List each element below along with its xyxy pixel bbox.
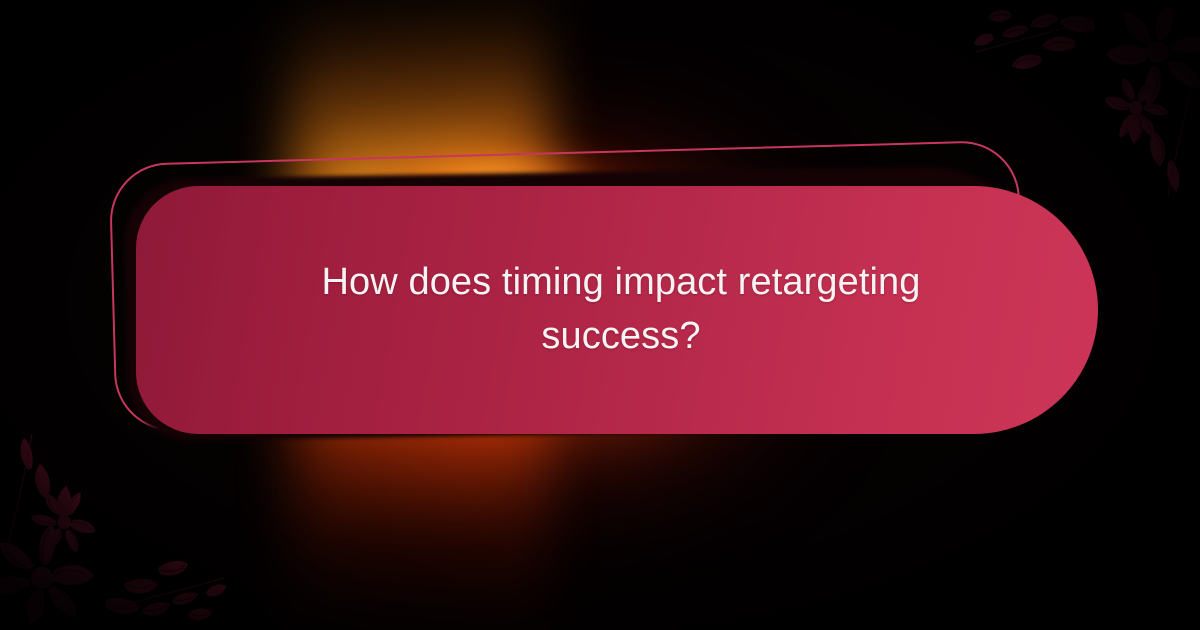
question-card[interactable]: How does timing impact retargeting succe… <box>136 186 1098 434</box>
question-title: How does timing impact retargeting succe… <box>271 256 971 364</box>
poster-canvas: How does timing impact retargeting succe… <box>0 0 1200 630</box>
